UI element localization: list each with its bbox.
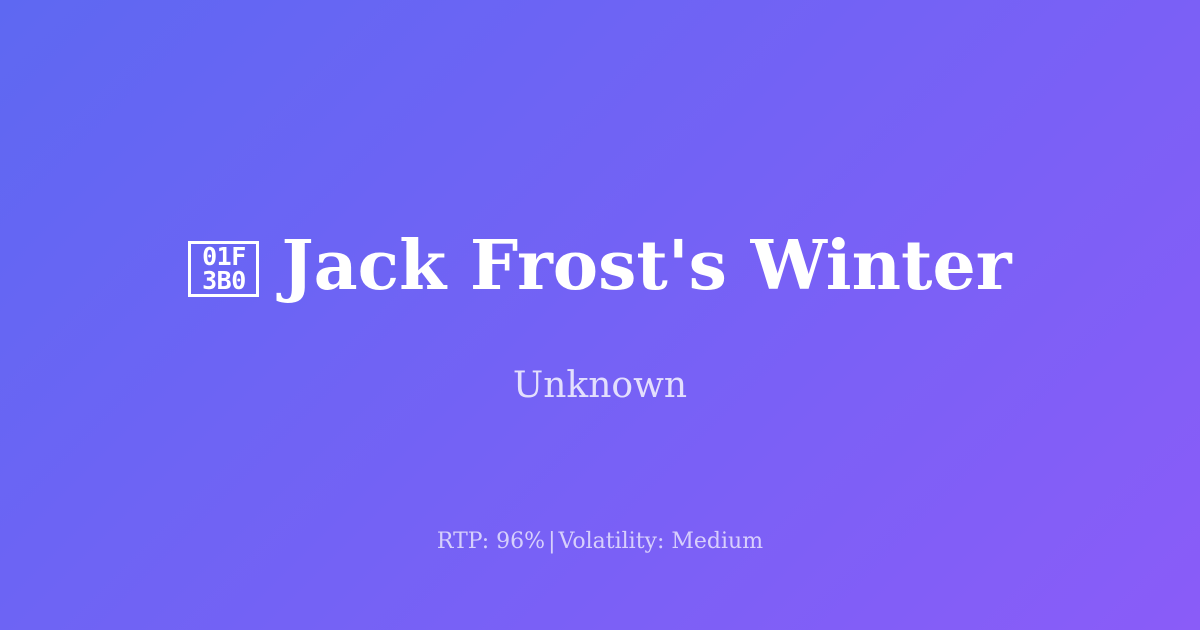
volatility-stat: Volatility: Medium	[559, 529, 764, 554]
title-row: 01F 3B0 Jack Frost's Winter	[0, 0, 1200, 581]
tofu-hex-top: 01F	[202, 245, 246, 269]
rtp-stat: RTP: 96%	[437, 529, 545, 554]
page-title: Jack Frost's Winter	[281, 232, 1011, 300]
tofu-hex-bottom: 3B0	[202, 269, 246, 293]
stats-line: RTP: 96%|Volatility: Medium	[0, 531, 1200, 553]
stats-separator: |	[545, 529, 558, 554]
og-card: 01F 3B0 Jack Frost's Winter Unknown RTP:…	[0, 0, 1200, 630]
provider-name: Unknown	[0, 368, 1200, 404]
slot-machine-icon: 01F 3B0	[188, 241, 259, 297]
